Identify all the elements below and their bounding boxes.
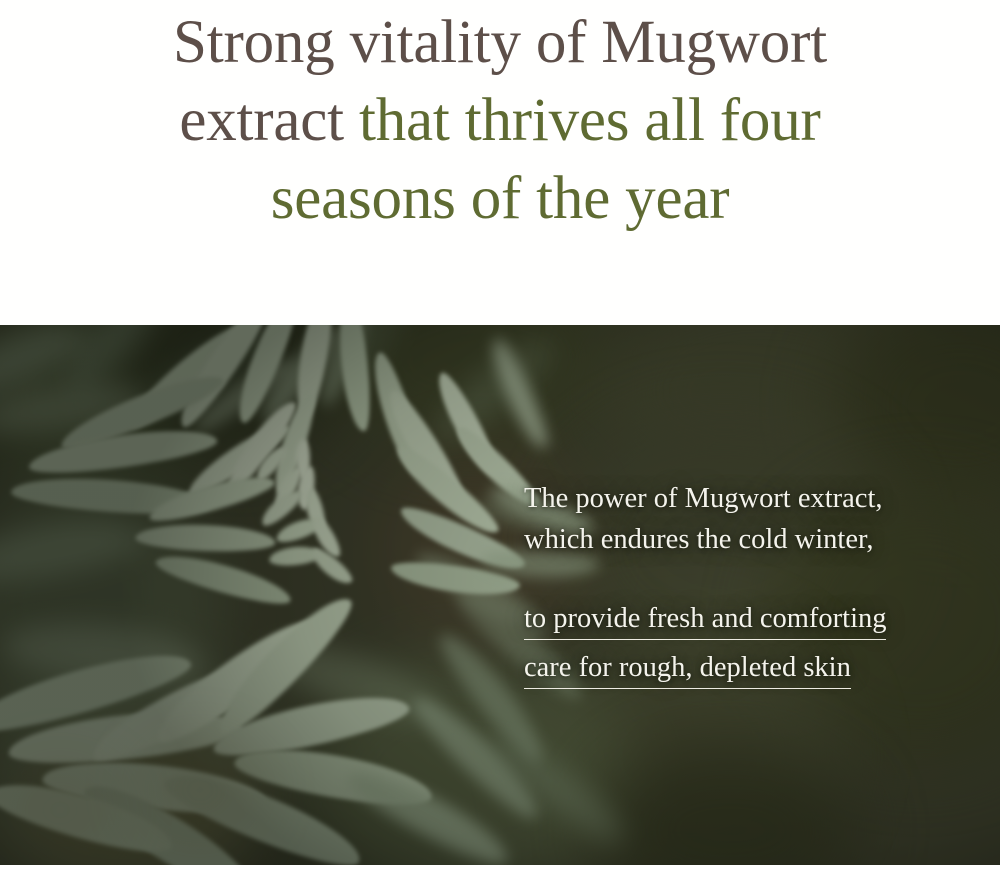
overlay-para2-line1: to provide fresh and comforting	[524, 601, 886, 640]
heading-line-3-text: seasons of the year	[271, 165, 730, 232]
mugwort-photo: The power of Mugwort extract, which endu…	[0, 325, 1000, 865]
overlay-para2-line2: care for rough, depleted skin	[524, 650, 851, 689]
bottom-white-strip	[0, 865, 1000, 869]
overlay-para2-line1-wrap: to provide fresh and comforting	[524, 598, 954, 640]
heading-line-1: Strong vitality of Mugwort	[0, 4, 1000, 82]
overlay-para2-line2-wrap: care for rough, depleted skin	[524, 647, 954, 689]
overlay-para1-line2: which endures the cold winter,	[524, 519, 954, 560]
soil-blob	[0, 765, 120, 855]
soil-blob	[140, 745, 260, 835]
mugwort-bud	[296, 439, 310, 479]
heading-line-2: extract that thrives all four	[0, 82, 1000, 160]
overlay-para1-line1: The power of Mugwort extract,	[524, 478, 954, 519]
promotional-banner: Strong vitality of Mugwort extract that …	[0, 0, 1000, 869]
overlay-paragraph-gap	[524, 560, 954, 598]
heading-line-2-brown-text: extract	[179, 87, 344, 154]
page-title: Strong vitality of Mugwort extract that …	[0, 4, 1000, 238]
heading-line-3: seasons of the year	[0, 160, 1000, 238]
heading-line-1-text: Strong vitality of Mugwort	[173, 9, 827, 76]
heading-line-2-green-text: that thrives all four	[344, 87, 821, 154]
overlay-copy: The power of Mugwort extract, which endu…	[524, 478, 954, 696]
heading-band: Strong vitality of Mugwort extract that …	[0, 0, 1000, 325]
